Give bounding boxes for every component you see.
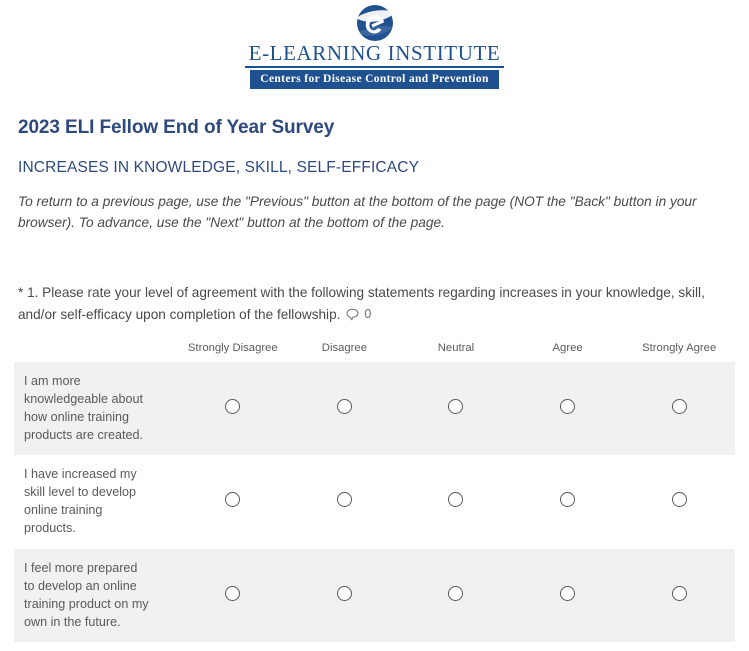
- table-row: I feel more prepared to develop an onlin…: [14, 549, 735, 643]
- radio-button[interactable]: [225, 586, 240, 601]
- table-row: I have been able to directly apply what …: [14, 642, 735, 651]
- radio-cell-strongly-disagree[interactable]: [177, 362, 289, 456]
- radio-cell-agree[interactable]: [512, 642, 624, 651]
- radio-cell-disagree[interactable]: [289, 642, 401, 651]
- row-statement: I am more knowledgeable about how online…: [14, 362, 177, 456]
- column-header-neutral: Neutral: [400, 342, 512, 362]
- radio-cell-strongly-agree[interactable]: [623, 642, 735, 651]
- radio-button[interactable]: [672, 586, 687, 601]
- logo-banner: Centers for Disease Control and Preventi…: [250, 70, 498, 89]
- comment-count: 0: [364, 304, 371, 324]
- radio-cell-strongly-agree[interactable]: [623, 549, 735, 643]
- radio-cell-strongly-agree[interactable]: [623, 455, 735, 549]
- radio-button[interactable]: [225, 399, 240, 414]
- radio-cell-strongly-disagree[interactable]: [177, 642, 289, 651]
- page-title: 2023 ELI Fellow End of Year Survey: [18, 117, 735, 139]
- site-logo: E-LEARNING INSTITUTE Centers for Disease…: [0, 0, 749, 89]
- radio-button[interactable]: [337, 492, 352, 507]
- radio-button[interactable]: [560, 492, 575, 507]
- row-statement: I feel more prepared to develop an onlin…: [14, 549, 177, 643]
- navigation-instructions: To return to a previous page, use the "P…: [18, 191, 735, 234]
- radio-cell-neutral[interactable]: [400, 455, 512, 549]
- radio-button[interactable]: [672, 492, 687, 507]
- column-header-strongly-agree: Strongly Agree: [623, 342, 735, 362]
- matrix-header: Strongly Disagree Disagree Neutral Agree…: [14, 342, 735, 362]
- radio-cell-agree[interactable]: [512, 362, 624, 456]
- radio-cell-neutral[interactable]: [400, 642, 512, 651]
- radio-cell-disagree[interactable]: [289, 362, 401, 456]
- radio-cell-agree[interactable]: [512, 549, 624, 643]
- matrix-body: I am more knowledgeable about how online…: [14, 362, 735, 651]
- table-row: I have increased my skill level to devel…: [14, 455, 735, 549]
- speech-bubble-icon[interactable]: [346, 308, 359, 321]
- radio-cell-disagree[interactable]: [289, 455, 401, 549]
- logo-title: E-LEARNING INSTITUTE: [245, 43, 505, 68]
- matrix-header-row: Strongly Disagree Disagree Neutral Agree…: [14, 342, 735, 362]
- row-statement: I have increased my skill level to devel…: [14, 455, 177, 549]
- question-comments[interactable]: 0: [346, 304, 371, 324]
- radio-cell-agree[interactable]: [512, 455, 624, 549]
- table-row: I am more knowledgeable about how online…: [14, 362, 735, 456]
- radio-button[interactable]: [337, 586, 352, 601]
- likert-matrix: Strongly Disagree Disagree Neutral Agree…: [14, 342, 735, 651]
- section-heading: INCREASES IN KNOWLEDGE, SKILL, SELF-EFFI…: [18, 159, 735, 177]
- radio-cell-strongly-agree[interactable]: [623, 362, 735, 456]
- column-header-agree: Agree: [512, 342, 624, 362]
- radio-button[interactable]: [448, 492, 463, 507]
- radio-cell-strongly-disagree[interactable]: [177, 549, 289, 643]
- radio-cell-neutral[interactable]: [400, 362, 512, 456]
- radio-button[interactable]: [448, 586, 463, 601]
- radio-button[interactable]: [560, 399, 575, 414]
- page-content: 2023 ELI Fellow End of Year Survey INCRE…: [0, 117, 749, 651]
- radio-cell-strongly-disagree[interactable]: [177, 455, 289, 549]
- radio-cell-disagree[interactable]: [289, 549, 401, 643]
- row-statement: I have been able to directly apply what …: [14, 642, 177, 651]
- radio-button[interactable]: [560, 586, 575, 601]
- column-header-disagree: Disagree: [289, 342, 401, 362]
- matrix-corner-cell: [14, 342, 177, 362]
- column-header-strongly-disagree: Strongly Disagree: [177, 342, 289, 362]
- radio-cell-neutral[interactable]: [400, 549, 512, 643]
- e-globe-icon: [347, 4, 403, 42]
- radio-button[interactable]: [225, 492, 240, 507]
- radio-button[interactable]: [672, 399, 687, 414]
- question-text: * 1. Please rate your level of agreement…: [18, 282, 735, 326]
- radio-button[interactable]: [448, 399, 463, 414]
- radio-button[interactable]: [337, 399, 352, 414]
